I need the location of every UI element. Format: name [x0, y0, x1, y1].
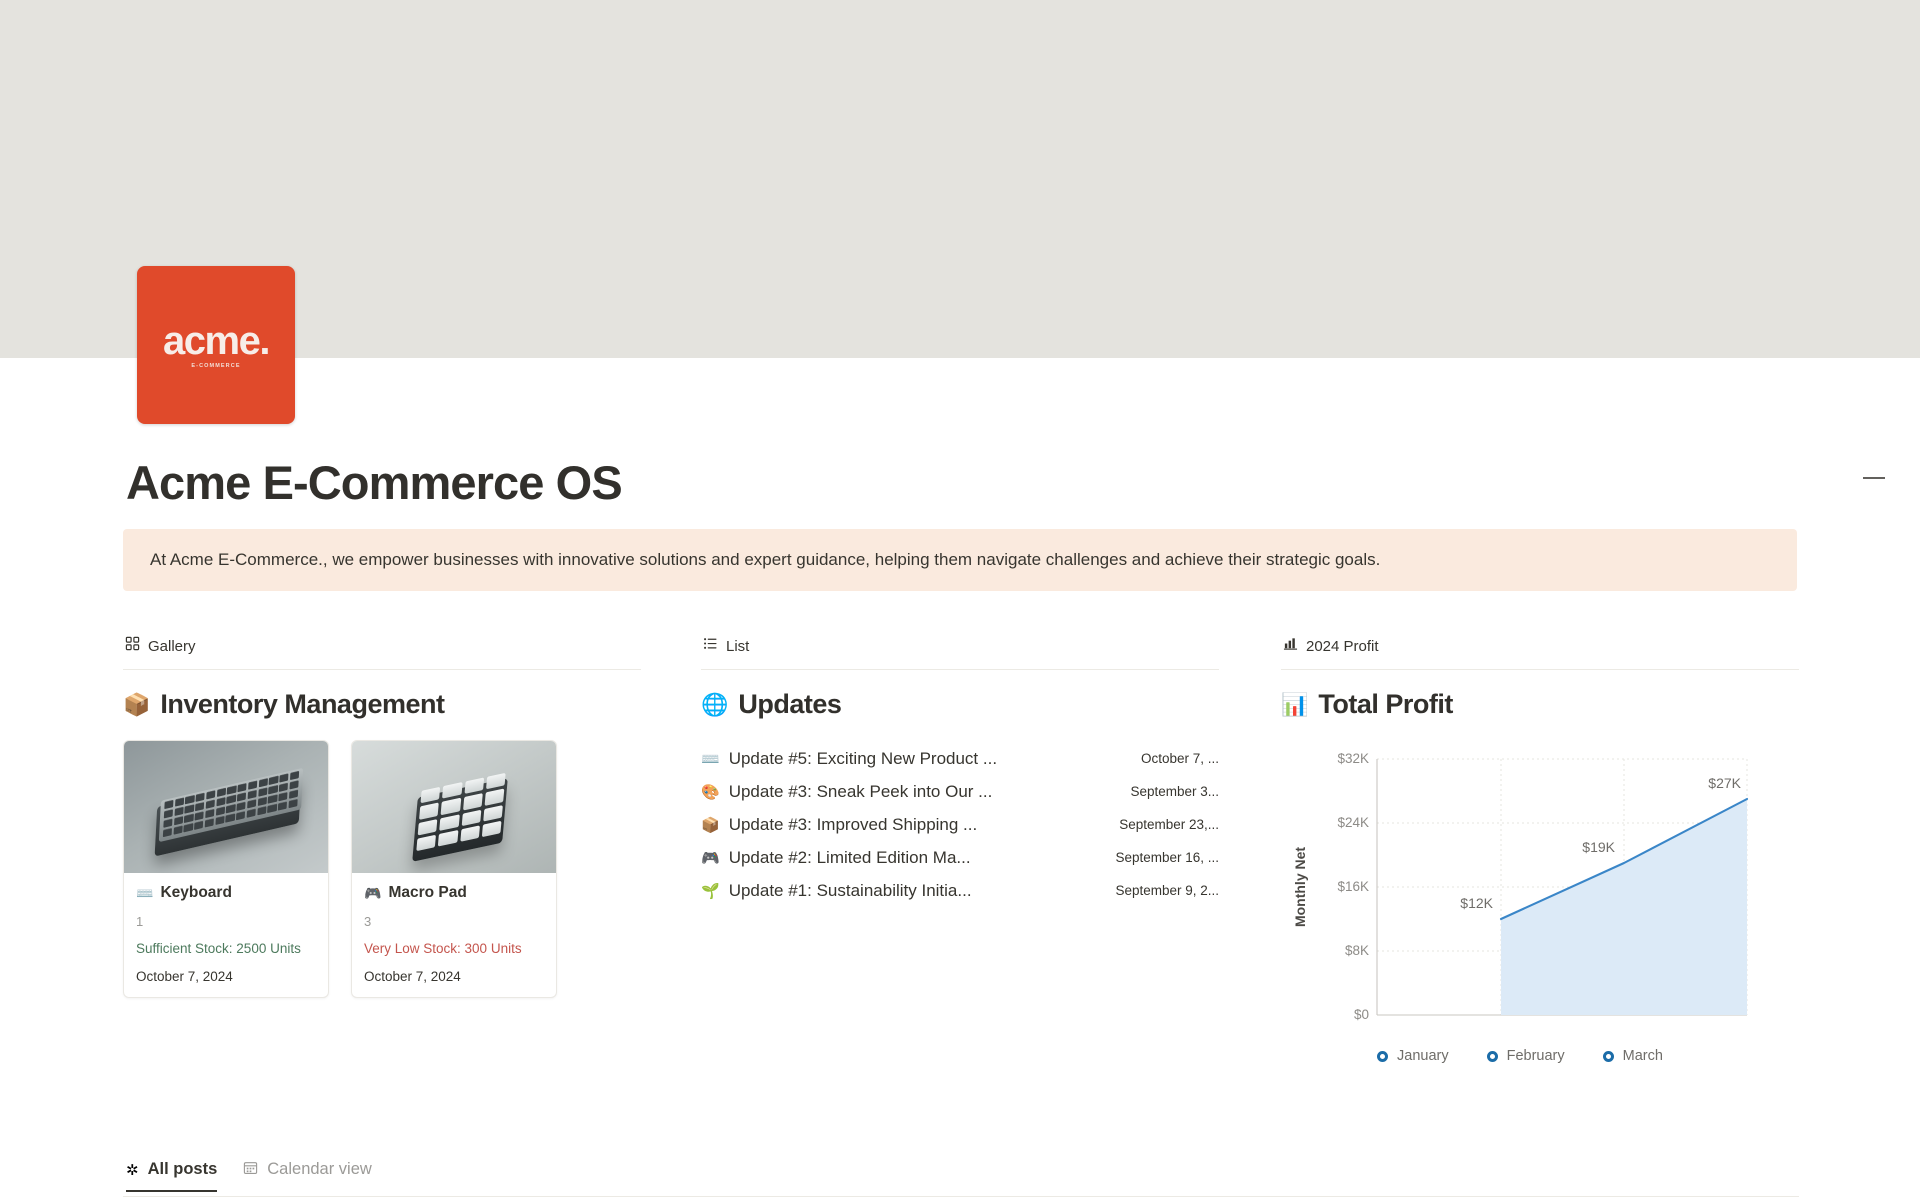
list-item-date: September 23,...: [1119, 817, 1219, 832]
calendar-icon: [243, 1160, 258, 1179]
chart-link-icon: 📊: [1281, 694, 1308, 716]
tab-all-posts[interactable]: ✲ All posts: [126, 1160, 217, 1192]
asterisk-icon: ✲: [126, 1161, 139, 1179]
card-title: 🎮 Macro Pad: [364, 884, 544, 902]
globe-link-icon: 🌐: [701, 694, 728, 716]
list-item-date: September 9, 2...: [1115, 883, 1219, 898]
list-item[interactable]: 🎮 Update #2: Limited Edition Ma... Septe…: [701, 841, 1219, 874]
gallery-card[interactable]: 🎮 Macro Pad 3 Very Low Stock: 300 Units …: [351, 740, 557, 998]
data-point-label: $19K: [1582, 839, 1615, 855]
bottom-view-tabs: ✲ All posts Calendar view: [126, 1160, 372, 1192]
package-link-icon: 📦: [123, 694, 150, 716]
keyboard-icon: ⌨️: [701, 750, 720, 768]
list-item-title-label: Update #2: Limited Edition Ma...: [729, 848, 971, 868]
card-title-label: Keyboard: [160, 884, 232, 902]
divider: [123, 1196, 1799, 1197]
divider: [123, 669, 641, 670]
list-item-date: October 7, ...: [1141, 751, 1219, 766]
legend-item-march[interactable]: March: [1603, 1048, 1663, 1064]
card-date: October 7, 2024: [364, 969, 544, 984]
legend-marker-icon: [1377, 1051, 1388, 1062]
legend-label: January: [1397, 1048, 1449, 1064]
notion-page: acme. E-COMMERCE Acme E-Commerce OS At A…: [0, 0, 1920, 1199]
list-column: List 🌐 Updates ⌨️ Update #5: Exciting Ne…: [701, 633, 1219, 1083]
palette-icon: 🎨: [701, 783, 720, 801]
tab-all-posts-label: All posts: [148, 1160, 218, 1179]
database-title-total-profit[interactable]: 📊 Total Profit: [1281, 689, 1799, 720]
list-item-title: 📦 Update #3: Improved Shipping ...: [701, 815, 977, 835]
tab-gallery-label: Gallery: [148, 638, 196, 655]
card-title-label: Macro Pad: [388, 884, 466, 902]
gallery-cards: ⌨️ Keyboard 1 Sufficient Stock: 2500 Uni…: [123, 740, 641, 998]
y-tick-label: $32K: [1337, 751, 1369, 766]
list-item-title-label: Update #3: Sneak Peek into Our ...: [729, 782, 993, 802]
page-icon-logo[interactable]: acme. E-COMMERCE: [137, 266, 295, 424]
callout-block[interactable]: At Acme E-Commerce., we empower business…: [123, 529, 1797, 591]
legend-label: March: [1623, 1048, 1663, 1064]
chart-area-fill: [1501, 799, 1747, 1015]
tab-gallery[interactable]: Gallery: [123, 633, 641, 659]
macro-pad-icon: 🎮: [701, 849, 720, 867]
tab-2024-profit[interactable]: 2024 Profit: [1281, 633, 1799, 659]
logo-wordmark: acme.: [163, 321, 269, 361]
list-item[interactable]: 🎨 Update #3: Sneak Peek into Our ... Sep…: [701, 775, 1219, 808]
tab-2024-profit-label: 2024 Profit: [1306, 638, 1379, 655]
tab-list[interactable]: List: [701, 633, 1219, 659]
card-image-keyboard: [124, 741, 328, 873]
divider: [1281, 669, 1799, 670]
minimize-icon[interactable]: [1861, 471, 1887, 485]
column-layout: Gallery 📦 Inventory Management: [123, 633, 1799, 1083]
tab-list-label: List: [726, 638, 749, 655]
chart-legend: January February March: [1281, 1048, 1799, 1064]
callout-text: At Acme E-Commerce., we empower business…: [123, 548, 1380, 573]
database-title-inventory-label: Inventory Management: [160, 689, 444, 720]
list-item[interactable]: 🌱 Update #1: Sustainability Initia... Se…: [701, 874, 1219, 907]
data-point-label: $12K: [1460, 895, 1493, 911]
card-stock-status: Sufficient Stock: 2500 Units: [136, 941, 316, 956]
legend-label: February: [1507, 1048, 1565, 1064]
list-item-title: 🎨 Update #3: Sneak Peek into Our ...: [701, 782, 992, 802]
data-point-label: $27K: [1708, 775, 1741, 791]
legend-item-february[interactable]: February: [1487, 1048, 1565, 1064]
list-item-title-label: Update #3: Improved Shipping ...: [729, 815, 978, 835]
legend-marker-icon: [1487, 1051, 1498, 1062]
profit-chart[interactable]: $32K $24K $16K $8K $0 Monthly Net $12K $…: [1281, 742, 1799, 1072]
list-item-title: 🎮 Update #2: Limited Edition Ma...: [701, 848, 971, 868]
tab-calendar-view-label: Calendar view: [267, 1160, 372, 1179]
database-title-inventory[interactable]: 📦 Inventory Management: [123, 689, 641, 720]
list-item-date: September 3...: [1130, 784, 1219, 799]
database-title-total-profit-label: Total Profit: [1318, 689, 1452, 720]
list-item-title: 🌱 Update #1: Sustainability Initia...: [701, 881, 972, 901]
list-item[interactable]: 📦 Update #3: Improved Shipping ... Septe…: [701, 808, 1219, 841]
database-title-updates-label: Updates: [738, 689, 841, 720]
bar-chart-icon: [1283, 636, 1298, 656]
page-title[interactable]: Acme E-Commerce OS: [126, 455, 622, 510]
legend-marker-icon: [1603, 1051, 1614, 1062]
card-stock-status: Very Low Stock: 300 Units: [364, 941, 544, 956]
chart-column: 2024 Profit 📊 Total Profit: [1281, 633, 1799, 1083]
card-count: 1: [136, 914, 316, 929]
grid-icon: [125, 636, 140, 656]
legend-item-january[interactable]: January: [1377, 1048, 1449, 1064]
y-axis-title: Monthly Net: [1292, 847, 1308, 927]
divider: [701, 669, 1219, 670]
card-count: 3: [364, 914, 544, 929]
list-item-title: ⌨️ Update #5: Exciting New Product ...: [701, 749, 997, 769]
keyboard-icon: ⌨️: [136, 885, 153, 902]
y-tick-label: $24K: [1337, 815, 1369, 830]
chart-canvas: $32K $24K $16K $8K $0 Monthly Net $12K $…: [1281, 742, 1799, 1042]
gallery-card[interactable]: ⌨️ Keyboard 1 Sufficient Stock: 2500 Uni…: [123, 740, 329, 998]
card-title: ⌨️ Keyboard: [136, 884, 316, 902]
card-date: October 7, 2024: [136, 969, 316, 984]
database-title-updates[interactable]: 🌐 Updates: [701, 689, 1219, 720]
y-tick-label: $16K: [1337, 879, 1369, 894]
list-item-title-label: Update #1: Sustainability Initia...: [729, 881, 972, 901]
y-tick-label: $8K: [1345, 943, 1369, 958]
list-icon: [703, 636, 718, 656]
y-tick-label: $0: [1354, 1007, 1369, 1022]
list-item-title-label: Update #5: Exciting New Product ...: [729, 749, 997, 769]
list-item[interactable]: ⌨️ Update #5: Exciting New Product ... O…: [701, 742, 1219, 775]
seedling-icon: 🌱: [701, 882, 720, 900]
package-icon: 📦: [701, 816, 720, 834]
gallery-column: Gallery 📦 Inventory Management: [123, 633, 641, 1083]
logo-subtitle: E-COMMERCE: [191, 363, 240, 369]
card-image-macro-pad: [352, 741, 556, 873]
tab-calendar-view[interactable]: Calendar view: [243, 1160, 372, 1192]
updates-list: ⌨️ Update #5: Exciting New Product ... O…: [701, 742, 1219, 907]
macro-pad-icon: 🎮: [364, 885, 381, 902]
list-item-date: September 16, ...: [1115, 850, 1219, 865]
